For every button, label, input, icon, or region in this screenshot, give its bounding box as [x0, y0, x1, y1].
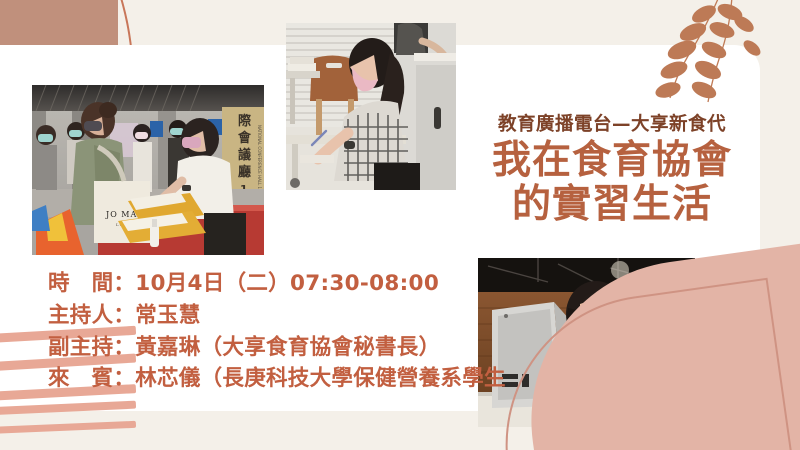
info-line-guest: 來 賓：林芯儀（長庚科技大學保健營養系學生: [48, 363, 506, 395]
info-line-time: 時 間：10月4日（二）07:30-08:00: [48, 268, 506, 300]
info-line-host: 主持人：常玉慧: [48, 300, 506, 332]
woman-writing-photo: [286, 23, 456, 190]
svg-text:廳: 廳: [238, 164, 251, 180]
svg-text:際: 際: [238, 113, 252, 129]
poster-canvas: 際會 議廳 1 NATIONAL CONFERENCE HALL 1: [0, 0, 800, 450]
svg-text:議: 議: [238, 147, 251, 163]
page-title: 我在食育協會 的實習生活: [452, 139, 772, 226]
title-line-1: 我在食育協會: [452, 139, 772, 183]
title-line-2: 的實習生活: [452, 183, 772, 227]
svg-text:會: 會: [238, 130, 252, 146]
program-info-list: 時 間：10月4日（二）07:30-08:00 主持人：常玉慧 副主持：黃嘉琳（…: [48, 268, 506, 395]
info-line-cohost: 副主持：黃嘉琳（大享食育協會秘書長）: [48, 332, 506, 364]
program-subtitle: 教育廣播電台—大享新食代: [452, 113, 772, 136]
leaf-branch-icon: [648, 0, 778, 124]
registration-desk-photo: 際會 議廳 1 NATIONAL CONFERENCE HALL 1: [32, 85, 264, 255]
title-block: 教育廣播電台—大享新食代 我在食育協會 的實習生活: [452, 113, 772, 226]
svg-text:NATIONAL CONFERENCE HALL 1: NATIONAL CONFERENCE HALL 1: [257, 125, 262, 190]
